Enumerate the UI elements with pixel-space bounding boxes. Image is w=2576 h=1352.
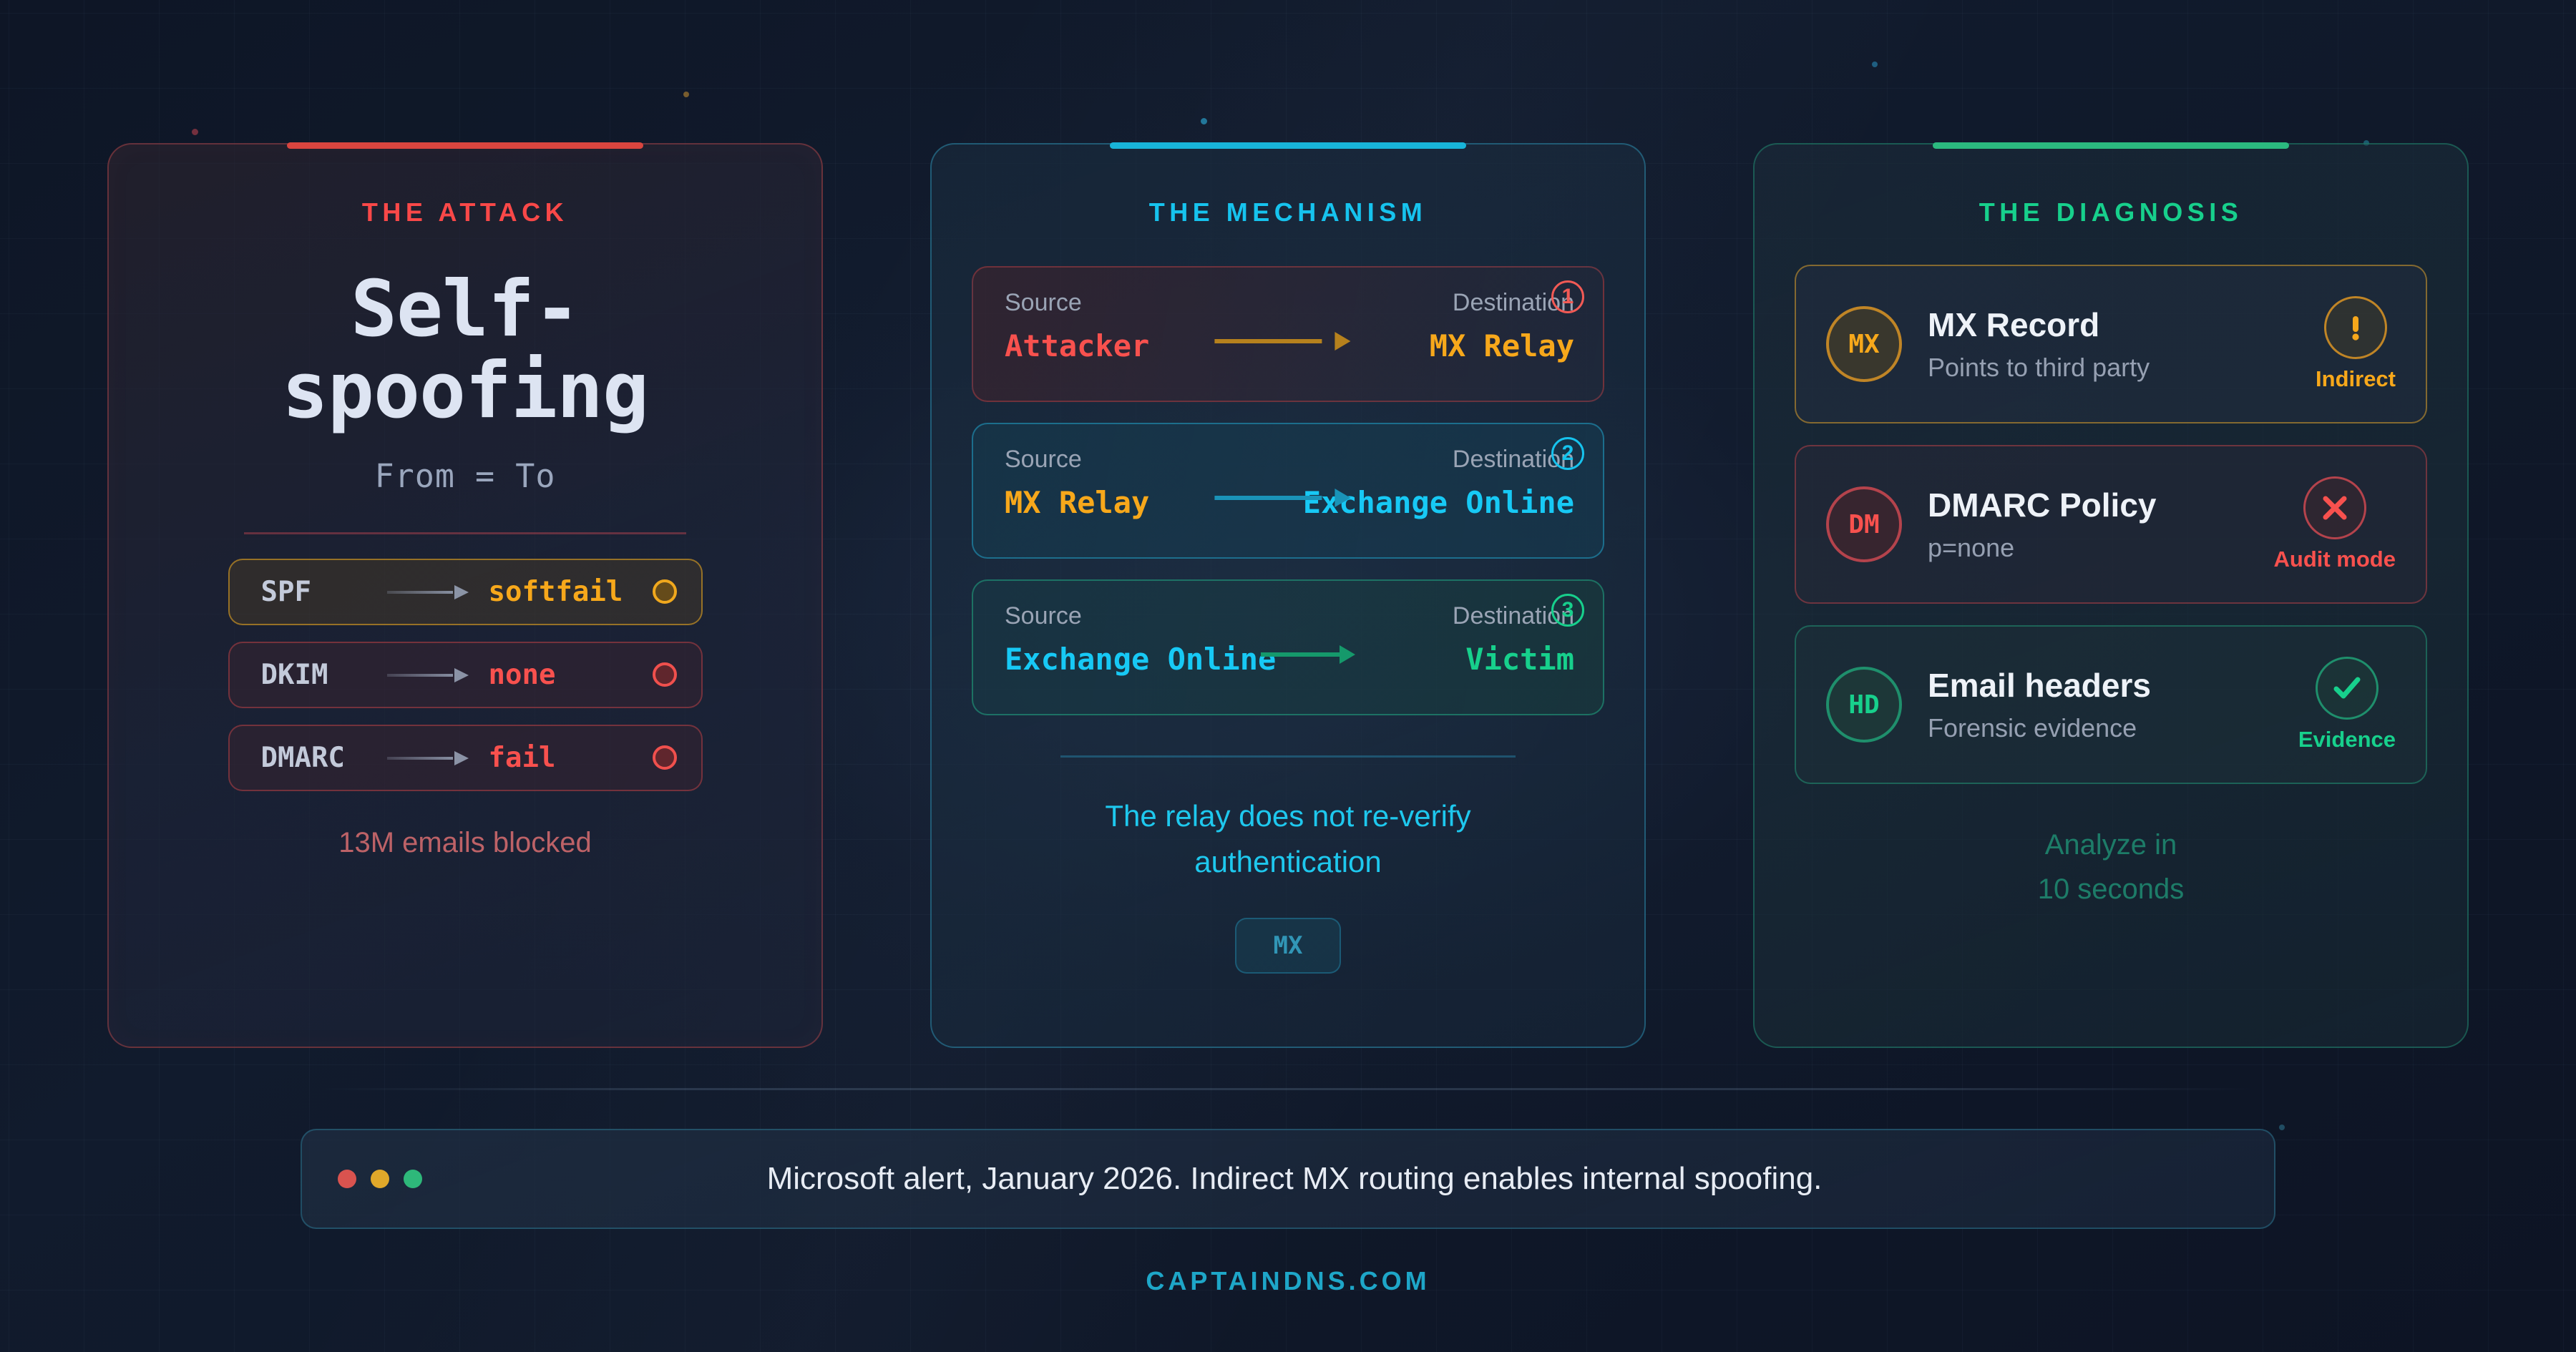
diagnosis-subtitle: Points to third party: [1928, 353, 2290, 383]
hd-badge: HD: [1826, 667, 1902, 743]
diagnosis-row-dmarc-policy[interactable]: DM DMARC Policy p=none Audit mode: [1795, 445, 2427, 604]
hop-destination-label: Destination: [1289, 289, 1574, 317]
decor-dot: [683, 92, 689, 97]
auth-name: SPF: [261, 576, 387, 608]
auth-value: softfail: [489, 576, 623, 608]
hop-step-number: 2: [1551, 437, 1584, 470]
arrow-right-icon: [1214, 490, 1350, 506]
mx-badge: MX: [1826, 306, 1902, 382]
decor-dot: [2279, 1125, 2285, 1130]
status-dot-bad-icon: [653, 662, 677, 687]
mechanism-note: The relay does not re-verify authenticat…: [1060, 793, 1516, 885]
attack-title-line2: spoofing: [282, 351, 648, 432]
hop-row-1[interactable]: Source Attacker Destination MX Relay 1: [972, 266, 1604, 402]
auth-name: DMARC: [261, 742, 387, 774]
auth-row-dkim[interactable]: DKIM none: [228, 642, 703, 708]
auth-results-list: SPF softfail DKIM none DMARC fail: [228, 559, 703, 791]
attack-title-line1: Self-: [282, 269, 648, 351]
status-dot-bad-icon: [653, 745, 677, 770]
hop-source-value: Exchange Online: [1005, 642, 1289, 677]
auth-row-dmarc[interactable]: DMARC fail: [228, 725, 703, 791]
cross-icon: [2303, 476, 2366, 539]
diagnosis-card: THE DIAGNOSIS MX MX Record Points to thi…: [1753, 143, 2469, 1048]
poster-canvas: THE ATTACK Self- spoofing From = To SPF …: [0, 0, 2576, 1352]
decor-dot: [192, 129, 198, 135]
diagnosis-subtitle: p=none: [1928, 533, 2248, 563]
auth-name: DKIM: [261, 659, 387, 691]
attack-subtitle: From = To: [375, 457, 556, 495]
hop-row-3[interactable]: Source Exchange Online Destination Victi…: [972, 579, 1604, 715]
diagnosis-accent-bar: [1933, 142, 2289, 149]
mx-chip[interactable]: MX: [1235, 918, 1342, 974]
diagnosis-kicker: THE DIAGNOSIS: [1979, 197, 2243, 227]
hop-step-number: 1: [1551, 280, 1584, 313]
bottom-divider: [322, 1088, 2254, 1090]
attack-accent-bar: [287, 142, 643, 149]
hop-source-label: Source: [1005, 446, 1289, 474]
arrow-right-icon: [1261, 647, 1397, 662]
arrow-right-icon: [387, 584, 473, 599]
status-badge: Indirect: [2316, 366, 2396, 392]
mechanism-accent-bar: [1110, 142, 1466, 149]
arrow-right-icon: [387, 667, 473, 682]
diagnosis-row-mx-record[interactable]: MX MX Record Points to third party Indir…: [1795, 265, 2427, 423]
auth-value: none: [489, 659, 556, 691]
decor-dot: [1201, 118, 1207, 124]
diagnosis-title: DMARC Policy: [1928, 486, 2248, 524]
hop-row-2[interactable]: Source MX Relay Destination Exchange Onl…: [972, 423, 1604, 559]
mail-flow-hops: Source Attacker Destination MX Relay 1: [972, 266, 1604, 715]
auth-row-spf[interactable]: SPF softfail: [228, 559, 703, 625]
hop-destination-label: Destination: [1289, 602, 1574, 630]
decor-dot: [1872, 62, 1878, 67]
attack-blocked-note: 13M emails blocked: [338, 827, 592, 859]
attack-divider: [244, 532, 687, 534]
brand-footer: CAPTAINDNS.COM: [0, 1266, 2576, 1296]
diagnosis-footer-line2: 10 seconds: [2038, 867, 2185, 911]
status-badge: Evidence: [2298, 727, 2396, 753]
check-icon: [2316, 657, 2379, 720]
status-dot-warn-icon: [653, 579, 677, 604]
hop-source-label: Source: [1005, 289, 1289, 317]
mechanism-kicker: THE MECHANISM: [1149, 197, 1428, 227]
diagnosis-title: MX Record: [1928, 305, 2290, 344]
diagnosis-title: Email headers: [1928, 666, 2273, 705]
diagnosis-row-email-headers[interactable]: HD Email headers Forensic evidence Evide…: [1795, 625, 2427, 784]
attack-card: THE ATTACK Self- spoofing From = To SPF …: [107, 143, 823, 1048]
status-badge: Audit mode: [2274, 547, 2396, 572]
alert-banner: Microsoft alert, January 2026. Indirect …: [301, 1129, 2275, 1229]
arrow-right-icon: [387, 750, 473, 765]
dm-badge: DM: [1826, 486, 1902, 562]
attack-kicker: THE ATTACK: [362, 197, 568, 227]
alert-banner-text: Microsoft alert, January 2026. Indirect …: [351, 1161, 2238, 1197]
diagnosis-footer: Analyze in 10 seconds: [2038, 823, 2185, 911]
cards-row: THE ATTACK Self- spoofing From = To SPF …: [107, 143, 2469, 1048]
diagnosis-rows: MX MX Record Points to third party Indir…: [1795, 265, 2427, 784]
attack-title: Self- spoofing: [282, 269, 648, 433]
arrow-right-icon: [1214, 333, 1350, 349]
hop-destination-label: Destination: [1289, 446, 1574, 474]
diagnosis-subtitle: Forensic evidence: [1928, 713, 2273, 743]
mechanism-divider: [1060, 755, 1516, 758]
diagnosis-footer-line1: Analyze in: [2038, 823, 2185, 867]
exclamation-icon: [2324, 296, 2387, 359]
auth-value: fail: [489, 742, 556, 774]
hop-step-number: 3: [1551, 594, 1584, 627]
hop-source-label: Source: [1005, 602, 1289, 630]
mechanism-card: THE MECHANISM Source Attacker Destinatio…: [930, 143, 1646, 1048]
